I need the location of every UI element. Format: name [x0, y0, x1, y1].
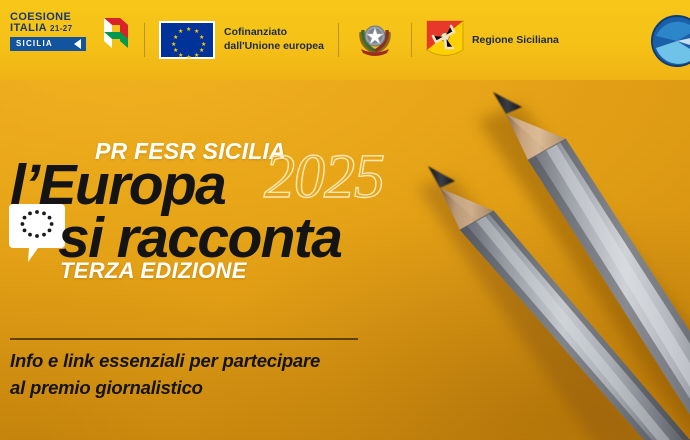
- italian-republic-emblem-icon: [353, 18, 397, 62]
- eu-label-line2: dall'Unione europea: [224, 40, 324, 54]
- logo-coesione-italia: COESIONE ITALIA 21-27 SICILIA: [10, 12, 130, 68]
- logo-european-union: ★ ★ ★ ★ ★ ★ ★ ★ ★ ★ ★ ★ Cofinanziato dal…: [159, 12, 324, 68]
- logo-regione-siciliana: Regione Siciliana: [426, 12, 559, 68]
- sicily-flag-icon: [426, 20, 464, 60]
- coesione-years-label: 21-27: [50, 25, 72, 33]
- divider-1: [144, 23, 145, 57]
- coesione-text-block: COESIONE ITALIA 21-27 SICILIA: [10, 12, 86, 51]
- sicily-label: Regione Siciliana: [472, 34, 559, 46]
- eu-label-line1: Cofinanziato: [224, 26, 324, 40]
- eu-label-block: Cofinanziato dall'Unione europea: [224, 26, 324, 53]
- divider-3: [411, 23, 412, 57]
- eu-flag-icon: ★ ★ ★ ★ ★ ★ ★ ★ ★ ★ ★ ★: [159, 21, 215, 59]
- coesione-region-bar: SICILIA: [10, 37, 86, 51]
- logo-strip: COESIONE ITALIA 21-27 SICILIA: [0, 0, 690, 80]
- coesione-cube-icon: [90, 14, 130, 52]
- coesione-italia-label: ITALIA: [10, 23, 47, 34]
- logo-italian-republic: [353, 12, 397, 68]
- coesione-line2: ITALIA 21-27: [10, 23, 86, 34]
- promotional-banner: COESIONE ITALIA 21-27 SICILIA: [0, 0, 690, 440]
- partner-circular-logo-icon: [650, 14, 690, 68]
- divider-2: [338, 23, 339, 57]
